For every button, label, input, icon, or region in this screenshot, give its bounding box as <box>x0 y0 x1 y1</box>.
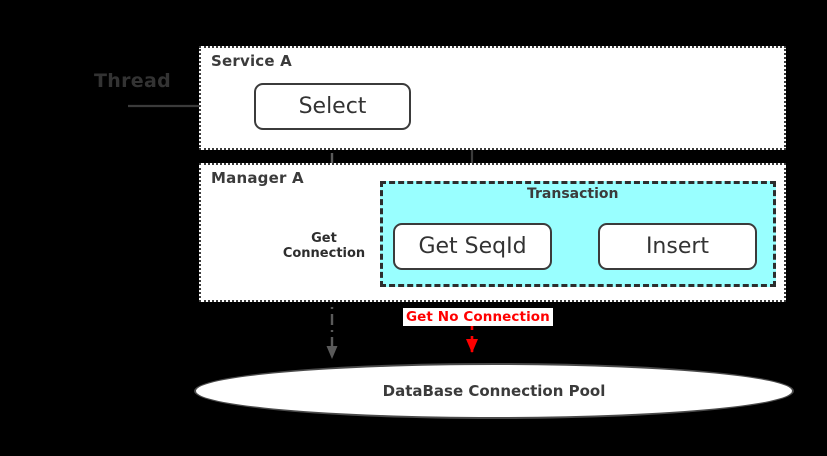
node-select[interactable]: Select <box>254 83 411 130</box>
thread-label: Thread <box>94 70 171 92</box>
lane-title-service-a: Service A <box>211 52 292 70</box>
node-get-seqid[interactable]: Get SeqId <box>393 223 552 270</box>
edge-label-get-connection-line1: Get <box>268 231 380 246</box>
edge-label-get-no-connection: Get No Connection <box>403 308 553 326</box>
transaction-label: Transaction <box>527 186 619 202</box>
diagram-canvas: Service A Manager A Transaction Select G… <box>0 0 827 456</box>
database-connection-pool[interactable]: DataBase Connection Pool <box>194 363 794 419</box>
edge-label-get-connection-line2: Connection <box>268 246 380 261</box>
lane-title-manager-a: Manager A <box>211 169 304 187</box>
node-insert[interactable]: Insert <box>598 223 757 270</box>
edge-label-get-connection: Get Connection <box>268 231 380 261</box>
